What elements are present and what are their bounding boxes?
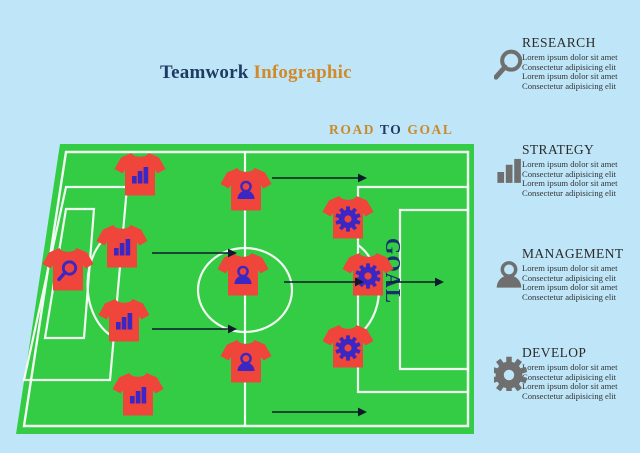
section-title-develop: DEVELOP <box>522 345 640 361</box>
arrow-top <box>272 171 369 189</box>
section-body-develop: DEVELOPLorem ipsum dolor sit ametConsect… <box>522 345 640 401</box>
section-line: Consectetur adipisicing elit <box>522 293 640 303</box>
arrow-upper-middle <box>152 246 239 264</box>
jersey-shape <box>221 168 272 211</box>
player-chart-bottom-left[interactable] <box>110 370 166 418</box>
section-body-research: RESEARCHLorem ipsum dolor sit ametConsec… <box>522 35 640 91</box>
section-line: Consectetur adipisicing elit <box>522 392 640 402</box>
gear-icon <box>494 353 528 391</box>
player-search-goalkeeper[interactable] <box>40 245 96 293</box>
arrow-center <box>284 275 366 293</box>
section-research[interactable]: RESEARCHLorem ipsum dolor sit ametConsec… <box>494 35 640 91</box>
player-person-top-center[interactable] <box>218 165 274 213</box>
player-gear-top-right[interactable] <box>320 193 376 241</box>
player-chart-mid-left[interactable] <box>94 222 150 270</box>
section-title-strategy: STRATEGY <box>522 142 640 158</box>
section-line: Consectetur adipisicing elit <box>522 189 640 199</box>
section-management[interactable]: MANAGEMENTLorem ipsum dolor sit ametCons… <box>494 246 640 302</box>
section-strategy[interactable]: STRATEGYLorem ipsum dolor sit ametConsec… <box>494 142 640 198</box>
title-primary: Teamwork <box>160 62 249 83</box>
jersey-shape <box>43 248 94 291</box>
arrow-lower-middle <box>152 322 239 340</box>
player-chart-low-left[interactable] <box>96 296 152 344</box>
person-icon <box>494 254 528 292</box>
bar-chart-icon <box>494 150 528 188</box>
player-person-bottom[interactable] <box>218 337 274 385</box>
section-develop[interactable]: DEVELOPLorem ipsum dolor sit ametConsect… <box>494 345 640 401</box>
jersey-shape <box>221 340 272 383</box>
section-title-research: RESEARCH <box>522 35 640 51</box>
infographic-canvas: Teamwork Infographic ROAD TO GOAL <box>0 0 640 453</box>
page-title: Teamwork Infographic <box>160 62 352 84</box>
section-line: Consectetur adipisicing elit <box>522 82 640 92</box>
section-title-management: MANAGEMENT <box>522 246 640 262</box>
section-body-strategy: STRATEGYLorem ipsum dolor sit ametConsec… <box>522 142 640 198</box>
player-chart-top-left[interactable] <box>112 150 168 198</box>
magnifier-icon <box>494 43 528 81</box>
arrow-to-goal <box>386 275 446 293</box>
player-gear-low-right[interactable] <box>320 322 376 370</box>
section-body-management: MANAGEMENTLorem ipsum dolor sit ametCons… <box>522 246 640 302</box>
title-secondary: Infographic <box>253 62 351 83</box>
arrow-bottom <box>272 405 369 423</box>
